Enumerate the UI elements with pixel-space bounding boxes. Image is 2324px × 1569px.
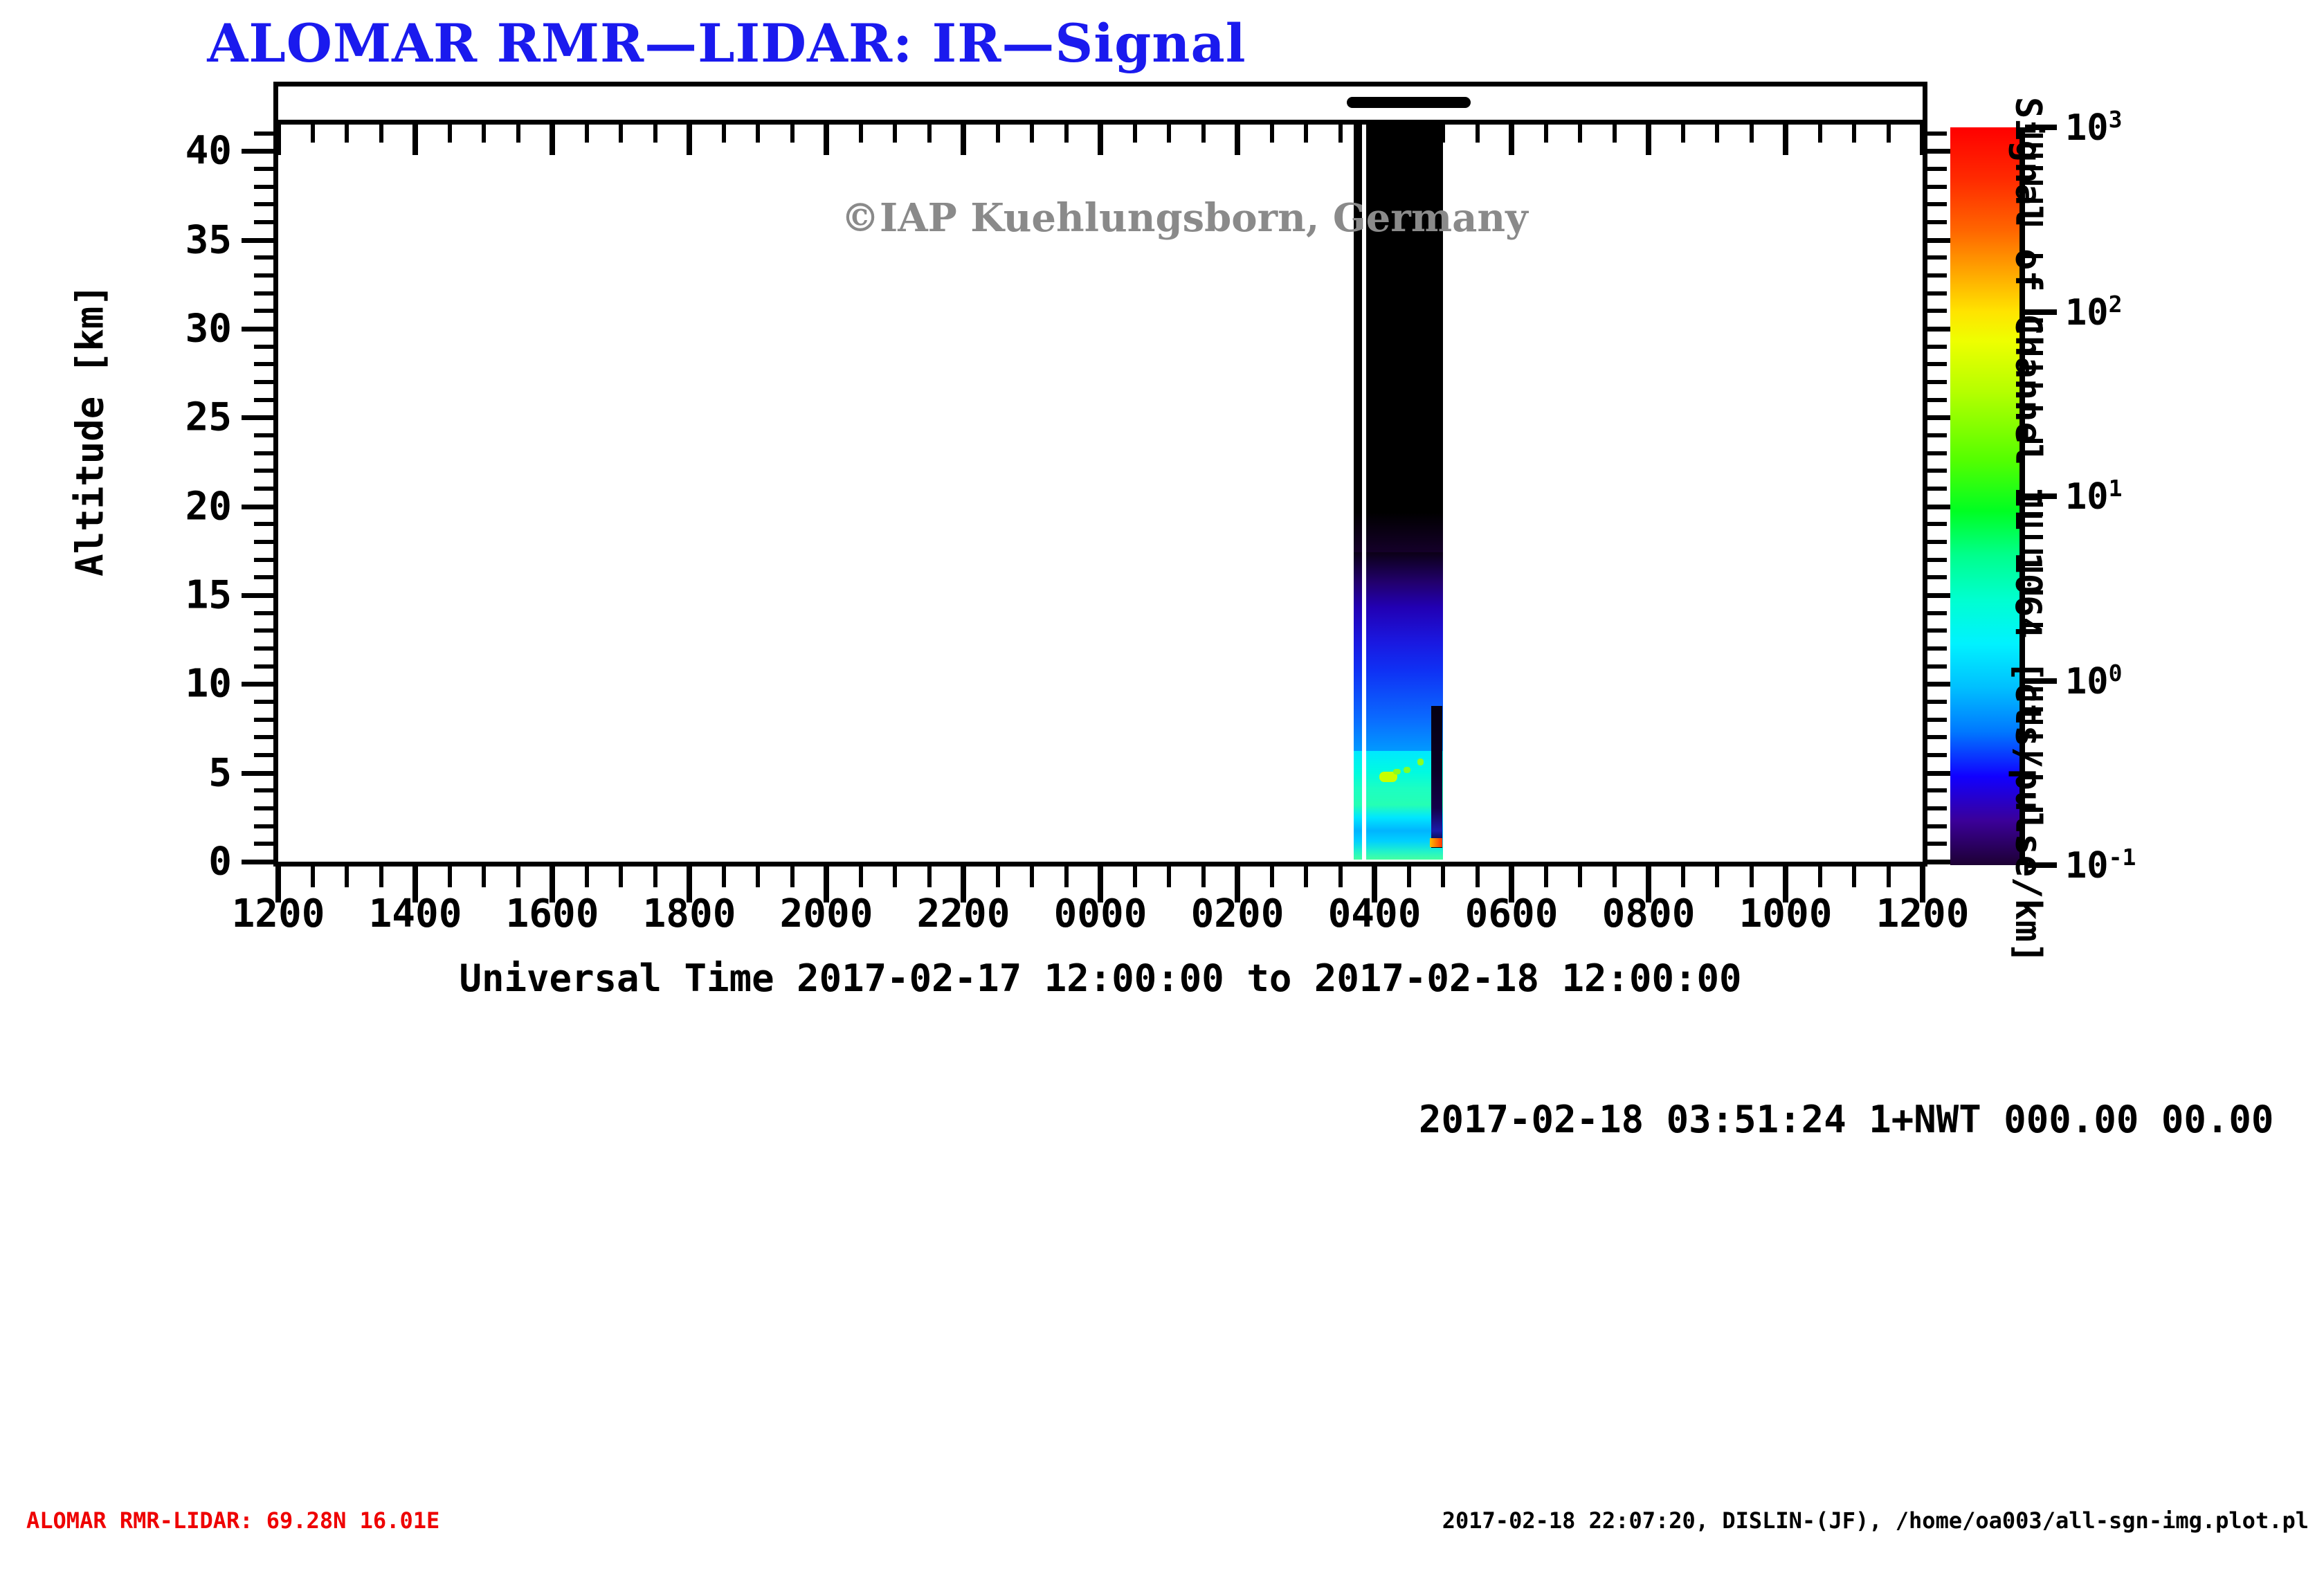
x-tick-bottom [1304,867,1308,887]
x-tick-top [1338,125,1343,143]
x-tick-top [1544,125,1548,143]
y-tick-left [254,575,273,579]
x-tick-top [996,125,1000,143]
y-tick-right [1927,220,1947,224]
x-tick-top [1715,125,1719,143]
x-tick-label: 0400 [1328,891,1422,936]
x-tick-top [961,125,966,155]
x-tick-top [1578,125,1582,143]
x-tick-top [927,125,932,143]
y-tick-left [254,487,273,491]
copyright-watermark: ©IAP Kuehlungsborn, Germany [841,195,1528,241]
y-tick-label: 25 [100,395,232,440]
y-tick-right [1927,291,1947,296]
y-tick-left [254,273,273,278]
y-tick-label: 0 [100,840,232,885]
y-tick-right [1927,806,1947,810]
colorbar-tick-label: 103 [2065,106,2123,149]
x-tick-bottom [1030,867,1034,887]
x-tick-bottom [1476,867,1480,887]
y-tick-left [254,735,273,739]
x-tick-label: 0600 [1465,891,1559,936]
x-tick-label: 1400 [369,891,462,936]
y-tick-right [1927,540,1947,544]
y-tick-right [1927,824,1947,828]
x-tick-top [1064,125,1069,143]
x-tick-top [1852,125,1856,143]
y-tick-left [242,860,273,864]
x-tick-bottom [653,867,657,887]
x-tick-top [1133,125,1137,143]
x-tick-top [412,125,418,155]
y-tick-right [1927,700,1947,704]
x-tick-bottom [1201,867,1206,887]
x-tick-top [1476,125,1480,143]
data-band-cyangreen [1354,751,1443,805]
x-tick-bottom [927,867,932,887]
y-tick-left [242,771,273,776]
y-tick-left [254,522,273,526]
x-tick-bottom [1750,867,1754,887]
y-tick-left [254,540,273,544]
y-tick-left [254,291,273,296]
y-tick-right [1927,558,1947,562]
y-tick-left [254,433,273,437]
y-tick-label: 40 [100,129,232,174]
x-tick-top [345,125,349,143]
y-tick-left [254,646,273,651]
y-tick-right [1927,522,1947,526]
x-tick-top [859,125,863,143]
y-tick-left [254,824,273,828]
x-tick-label: 1600 [506,891,599,936]
y-tick-left [254,362,273,366]
x-tick-top [653,125,657,143]
speckle-orange-ground [1430,838,1442,847]
data-band-blue [1354,670,1443,753]
y-tick-label: 30 [100,307,232,352]
x-tick-bottom [585,867,589,887]
y-tick-left [254,220,273,224]
x-tick-bottom [1338,867,1343,887]
data-band-nearground [1354,805,1443,841]
x-tick-bottom [722,867,726,887]
x-tick-label: 1200 [1876,891,1970,936]
y-tick-left [242,149,273,154]
x-tick-top [756,125,760,143]
y-tick-label: 35 [100,217,232,262]
y-tick-right [1927,664,1947,669]
y-tick-right [1927,611,1947,615]
y-tick-right [1927,788,1947,792]
page-title: ALOMAR RMR—LIDAR: IR—Signal [0,12,1453,74]
y-tick-left [254,451,273,455]
x-tick-label: 1200 [232,891,325,936]
x-tick-label: 0200 [1191,891,1284,936]
status-line: 2017-02-18 03:51:24 1+NWT 000.00 00.00 [1419,1098,2273,1141]
speckle-green-small-c [1417,759,1424,765]
y-tick-left [242,682,273,687]
y-tick-right [1927,345,1947,349]
data-band-black [1354,125,1443,552]
footer-generation-info: 2017-02-18 22:07:20, DISLIN-(JF), /home/… [1442,1507,2309,1534]
y-tick-right [1927,735,1947,739]
x-tick-bottom [996,867,1000,887]
x-tick-bottom [1544,867,1548,887]
x-tick-top [1750,125,1754,143]
y-tick-left [254,469,273,473]
x-tick-top [1270,125,1274,143]
right-axis-line [1923,82,1927,867]
y-tick-left [242,238,273,243]
x-tick-top [687,125,692,155]
y-tick-left [254,753,273,757]
y-tick-label: 20 [100,484,232,529]
y-tick-right [1927,433,1947,437]
y-tick-left [242,505,273,509]
y-tick-left [254,664,273,669]
x-tick-bottom [893,867,897,887]
y-tick-left [254,611,273,615]
y-tick-left [254,398,273,402]
x-tick-bottom [379,867,383,887]
y-tick-left [242,415,273,420]
y-tick-right [1927,842,1947,846]
y-axis-title: Altitude [km] [69,251,112,610]
y-tick-left [242,327,273,332]
x-tick-bottom [756,867,760,887]
x-tick-top [585,125,589,143]
y-tick-right [1927,273,1947,278]
x-tick-top [619,125,623,143]
y-tick-left [254,255,273,260]
y-axis-line [273,82,278,867]
y-tick-right [1927,309,1947,313]
x-tick-top [1030,125,1034,143]
x-tick-bottom [1064,867,1069,887]
y-tick-label: 5 [100,750,232,795]
y-tick-right [1927,255,1947,260]
x-tick-top [379,125,383,143]
y-tick-left [254,131,273,136]
x-tick-bottom [1407,867,1411,887]
x-tick-top [1783,125,1788,155]
y-tick-left [254,806,273,810]
x-tick-bottom [1270,867,1274,887]
y-tick-right [1927,575,1947,579]
x-tick-top [790,125,795,143]
x-tick-bottom [1681,867,1685,887]
y-tick-right [1927,131,1947,136]
x-tick-bottom [311,867,315,887]
y-tick-right [1927,185,1947,189]
x-tick-bottom [1167,867,1171,887]
x-tick-label: 0000 [1054,891,1147,936]
x-tick-top [1167,125,1171,143]
y-tick-right [1927,398,1947,402]
y-tick-label: 15 [100,573,232,618]
y-tick-left [254,788,273,792]
colorbar-tick-label: 100 [2065,659,2123,702]
x-tick-top [1887,125,1891,143]
x-tick-top [1509,125,1514,155]
y-tick-left [254,842,273,846]
x-tick-label: 2200 [917,891,1010,936]
x-tick-top [482,125,486,143]
colorbar-title: Signal of Channel IL 1064 [cts/pulse/km] [2007,97,2049,900]
x-tick-top [516,125,520,143]
y-tick-right [1927,628,1947,633]
x-tick-top [1235,125,1240,155]
y-tick-left [254,380,273,384]
measurement-period-bar [1347,97,1470,108]
x-tick-top [1646,125,1651,155]
y-tick-right [1927,753,1947,757]
x-tick-top [1201,125,1206,143]
y-tick-right [1927,202,1947,206]
y-tick-left [242,593,273,598]
x-tick-bottom [619,867,623,887]
x-tick-top [1920,125,1925,155]
x-axis-title: Universal Time 2017-02-17 12:00:00 to 20… [273,956,1927,1000]
colorbar-tick-label: 10-1 [2065,844,2136,887]
x-tick-top [1098,125,1103,155]
x-tick-top [311,125,315,143]
x-tick-bottom [482,867,486,887]
frame-top-outer-line [273,82,1927,87]
x-tick-bottom [1818,867,1822,887]
x-axis-line [273,862,1927,867]
y-tick-right [1927,451,1947,455]
colorbar-tick-label: 101 [2065,475,2123,518]
x-tick-top [550,125,555,155]
x-tick-top [893,125,897,143]
y-tick-left [254,718,273,722]
data-right-edge-sliver [1431,706,1442,848]
x-tick-bottom [516,867,520,887]
y-tick-left [254,345,273,349]
y-tick-right [1927,718,1947,722]
y-tick-left [254,185,273,189]
x-tick-label: 0800 [1602,891,1696,936]
data-band-darkblue [1354,608,1443,670]
x-tick-top [1304,125,1308,143]
x-tick-top [275,125,281,155]
x-tick-label: 1000 [1739,891,1833,936]
x-tick-label: 1800 [643,891,736,936]
x-tick-top [1681,125,1685,143]
frame-top-inner-line [273,120,1927,125]
x-tick-top [1818,125,1822,143]
x-tick-bottom [448,867,452,887]
y-tick-label: 10 [100,662,232,707]
x-tick-bottom [1578,867,1582,887]
x-tick-top [824,125,829,155]
footer-station-info: ALOMAR RMR-LIDAR: 69.28N 16.01E [26,1507,439,1534]
data-band-violet [1354,552,1443,608]
x-tick-bottom [859,867,863,887]
y-tick-left [254,167,273,171]
x-tick-top [1613,125,1617,143]
y-tick-right [1927,362,1947,366]
x-tick-bottom [1133,867,1137,887]
y-tick-right [1927,487,1947,491]
x-tick-bottom [1715,867,1719,887]
x-tick-bottom [1613,867,1617,887]
y-tick-right [1927,167,1947,171]
x-tick-top [448,125,452,143]
y-tick-left [254,309,273,313]
x-tick-bottom [1441,867,1445,887]
x-tick-bottom [790,867,795,887]
x-tick-bottom [345,867,349,887]
y-tick-right [1927,380,1947,384]
y-tick-right [1927,469,1947,473]
x-tick-bottom [1852,867,1856,887]
y-tick-left [254,700,273,704]
x-tick-top [722,125,726,143]
y-tick-left [254,558,273,562]
x-tick-bottom [1887,867,1891,887]
y-tick-left [254,628,273,633]
x-tick-label: 2000 [780,891,873,936]
speckle-green-small-b [1404,767,1410,773]
colorbar-tick-label: 102 [2065,290,2123,333]
y-tick-right [1927,646,1947,651]
speckle-green-small-a [1393,769,1401,774]
y-tick-left [254,202,273,206]
